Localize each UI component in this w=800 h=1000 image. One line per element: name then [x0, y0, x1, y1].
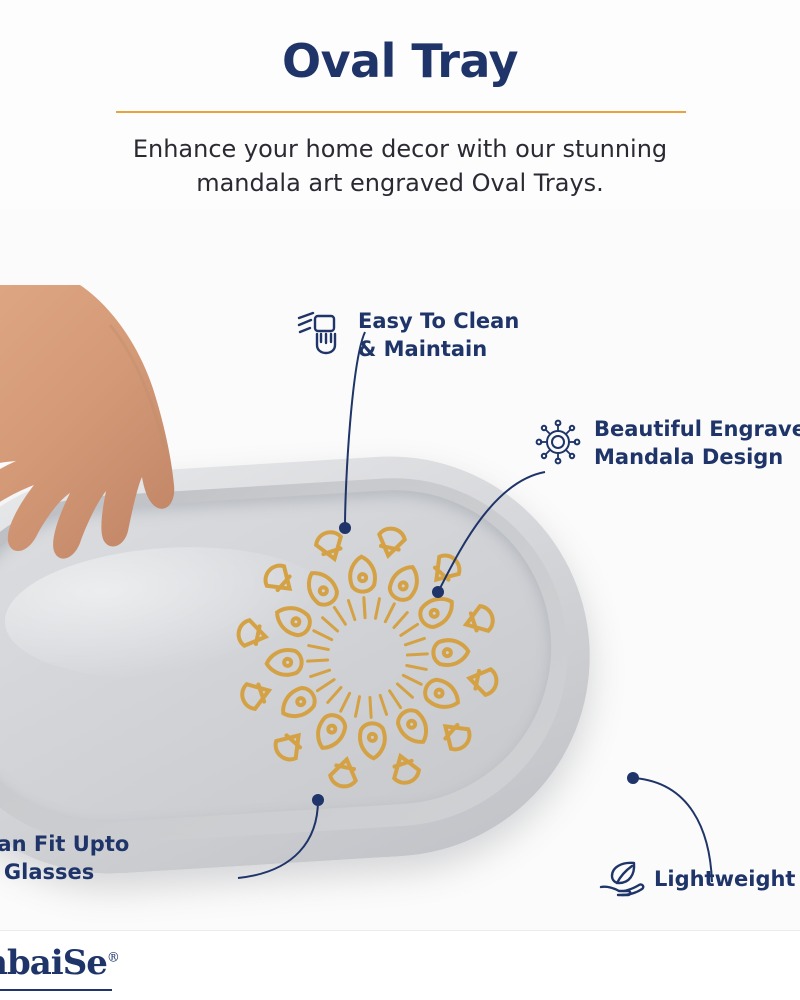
footer: mbaiSe® [0, 930, 800, 1000]
callout-lightweight-line1: Lightweight [654, 865, 795, 893]
callout-mandala-design: Beautiful Engraved Mandala Design [594, 415, 800, 471]
brand-name: mbaiSe [0, 943, 107, 983]
product-infographic: Oval Tray Enhance your home decor with o… [0, 0, 800, 1000]
hand-wiping-cloth-icon [295, 310, 339, 356]
hand [0, 285, 250, 615]
subtitle: Enhance your home decor with our stunnin… [90, 132, 710, 200]
callout-easy-to-clean-line2: & Maintain [358, 335, 519, 363]
hand-holding-leaf-icon [598, 860, 646, 902]
callout-mandala-design-line1: Beautiful Engraved [594, 415, 800, 443]
title-divider [116, 111, 686, 113]
header: Oval Tray Enhance your home decor with o… [0, 0, 800, 210]
callout-can-fit-glasses-line2: 6 Glasses [0, 858, 129, 886]
mandala-engraving [222, 512, 513, 803]
callout-mandala-design-line2: Mandala Design [594, 443, 800, 471]
page-title: Oval Tray [0, 34, 800, 88]
product-photo: Easy To Clean & Maintain [0, 210, 800, 930]
brand-logo: mbaiSe® [0, 943, 119, 983]
callout-can-fit-glasses-line1: Can Fit Upto [0, 830, 129, 858]
callout-easy-to-clean: Easy To Clean & Maintain [358, 307, 519, 363]
mandala-flower-icon [534, 418, 582, 466]
callout-can-fit-glasses: Can Fit Upto 6 Glasses [0, 830, 129, 886]
brand-underline [0, 989, 112, 991]
callout-lightweight: Lightweight [654, 865, 795, 893]
registered-mark: ® [107, 951, 119, 966]
callout-easy-to-clean-line1: Easy To Clean [358, 307, 519, 335]
